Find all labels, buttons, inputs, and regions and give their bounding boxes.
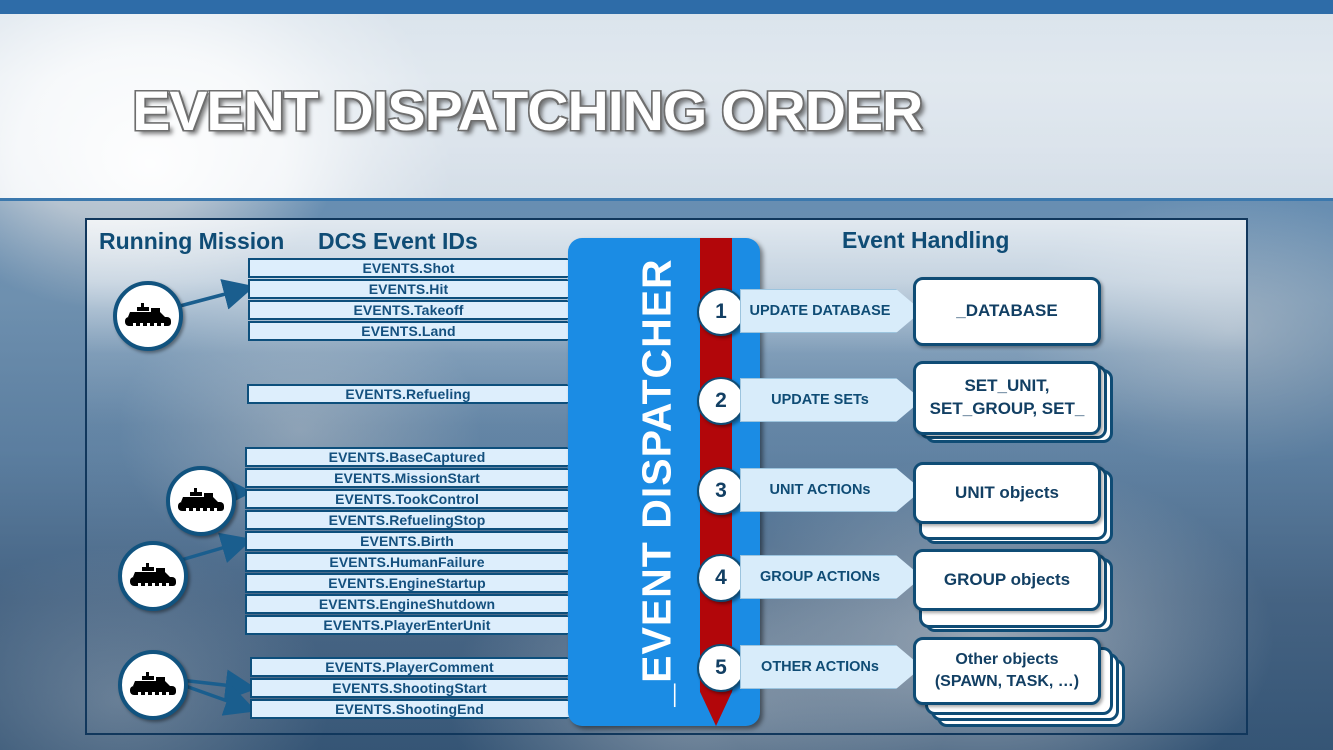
handling-action-2[interactable]: UPDATE SETs <box>740 378 922 422</box>
event-chevron[interactable]: EVENTS.EngineStartup <box>245 573 581 593</box>
step-number-2: 2 <box>697 377 745 425</box>
event-chevron[interactable]: EVENTS.MissionStart <box>245 468 581 488</box>
step-number-1: 1 <box>697 288 745 336</box>
handling-action-3[interactable]: UNIT ACTIONs <box>740 468 922 512</box>
event-chevron[interactable]: EVENTS.Birth <box>245 531 581 551</box>
step-number-5: 5 <box>697 644 745 692</box>
event-chevron[interactable]: EVENTS.Takeoff <box>248 300 581 320</box>
top-accent-bar <box>0 0 1333 14</box>
event-chevron[interactable]: EVENTS.ShootingStart <box>250 678 581 698</box>
tank-icon <box>130 672 176 698</box>
handling-action-1[interactable]: UPDATE DATABASE <box>740 289 922 333</box>
event-chevron[interactable]: EVENTS.PlayerComment <box>250 657 581 677</box>
handling-target-1[interactable]: _DATABASE <box>913 277 1101 346</box>
tank-icon-circle-3 <box>118 541 188 611</box>
tank-icon-circle-2 <box>166 466 236 536</box>
event-chevron[interactable]: EVENTS.RefuelingStop <box>245 510 581 530</box>
step-number-3: 3 <box>697 467 745 515</box>
event-chevron[interactable]: EVENTS.TookControl <box>245 489 581 509</box>
event-chevron[interactable]: EVENTS.Refueling <box>247 384 581 404</box>
event-chevron[interactable]: EVENTS.ShootingEnd <box>250 699 581 719</box>
event-chevron[interactable]: EVENTS.EngineShutdown <box>245 594 581 614</box>
handling-target-3[interactable]: UNIT objects <box>913 462 1101 524</box>
tank-icon <box>178 488 224 514</box>
tank-icon <box>130 563 176 589</box>
tank-icon-circle-1 <box>113 281 183 351</box>
step-number-4: 4 <box>697 554 745 602</box>
handling-target-4[interactable]: GROUP objects <box>913 549 1101 611</box>
handling-action-5[interactable]: OTHER ACTIONs <box>740 645 922 689</box>
column-header-dcs-event-ids: DCS Event IDs <box>318 228 478 255</box>
event-chevron[interactable]: EVENTS.BaseCaptured <box>245 447 581 467</box>
event-chevron[interactable]: EVENTS.Hit <box>248 279 581 299</box>
handling-target-5[interactable]: Other objects (SPAWN, TASK, …) <box>913 637 1101 705</box>
tank-icon <box>125 303 171 329</box>
handling-action-4[interactable]: GROUP ACTIONs <box>740 555 922 599</box>
event-chevron[interactable]: EVENTS.HumanFailure <box>245 552 581 572</box>
event-chevron[interactable]: EVENTS.PlayerEnterUnit <box>245 615 581 635</box>
column-header-running-mission: Running Mission <box>99 228 284 255</box>
column-header-event-handling: Event Handling <box>842 227 1009 254</box>
page-title: EVENT DISPATCHING ORDER <box>132 78 922 143</box>
tank-icon-circle-4 <box>118 650 188 720</box>
handling-target-2[interactable]: SET_UNIT, SET_GROUP, SET_ <box>913 361 1101 435</box>
event-chevron[interactable]: EVENTS.Shot <box>248 258 581 278</box>
event-chevron[interactable]: EVENTS.Land <box>248 321 581 341</box>
